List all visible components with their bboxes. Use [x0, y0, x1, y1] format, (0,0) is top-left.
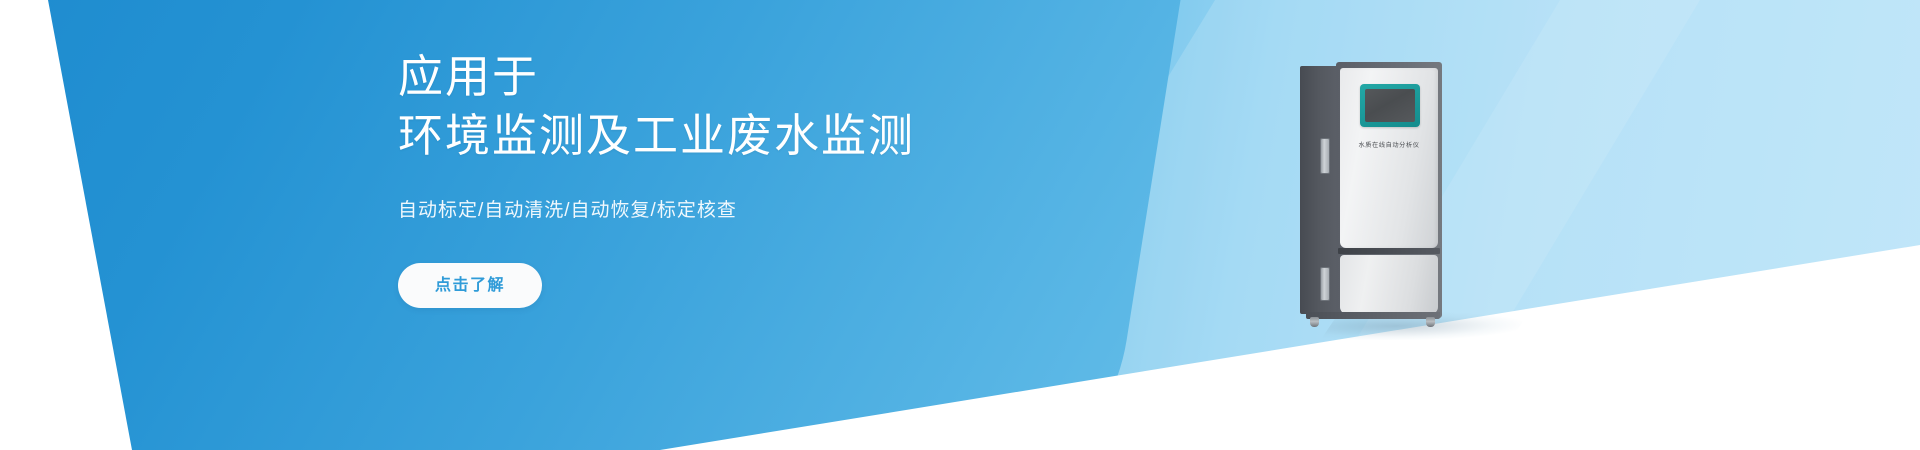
water-quality-analyzer-image: 水质在线自动分析仪 — [1300, 62, 1460, 322]
learn-more-button[interactable]: 点击了解 — [398, 263, 542, 308]
device-screen — [1365, 89, 1415, 122]
device-base — [1306, 312, 1440, 319]
device-lower-handle-icon — [1320, 267, 1330, 301]
banner-headline: 应用于 环境监测及工业废水监测 — [398, 48, 1158, 165]
banner-subtitle: 自动标定/自动清洗/自动恢复/标定核查 — [398, 165, 1158, 222]
banner-copy: 应用于 环境监测及工业废水监测 自动标定/自动清洗/自动恢复/标定核查 点击了解 — [398, 48, 1158, 308]
device-divider — [1338, 248, 1440, 254]
device-upper-handle-icon — [1320, 138, 1330, 174]
device-lower-compartment — [1340, 255, 1438, 314]
device-caster-left-icon — [1310, 317, 1319, 327]
device-front-label: 水质在线自动分析仪 — [1340, 140, 1438, 149]
device-caster-right-icon — [1426, 317, 1435, 327]
hero-banner: 应用于 环境监测及工业废水监测 自动标定/自动清洗/自动恢复/标定核查 点击了解… — [0, 0, 1920, 450]
device-screen-bezel — [1360, 84, 1420, 127]
